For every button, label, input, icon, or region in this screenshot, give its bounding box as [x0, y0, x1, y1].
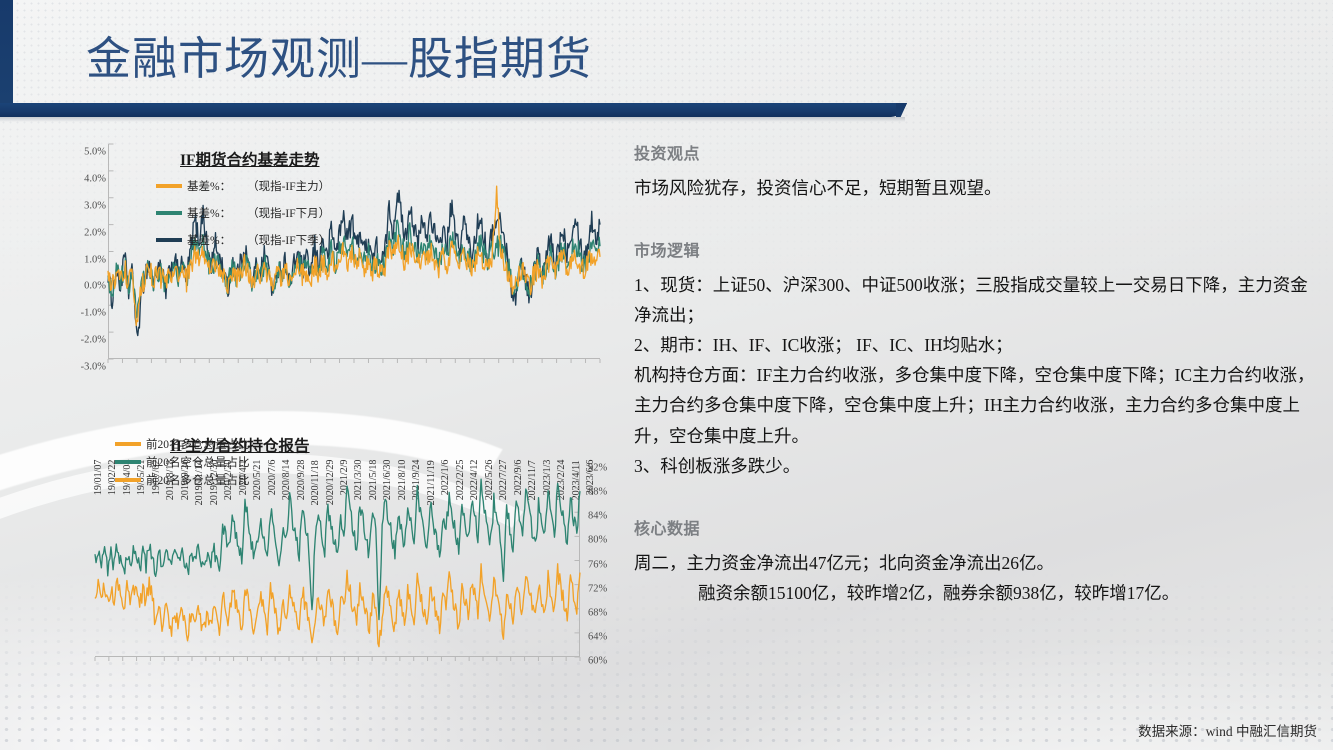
chart2-legend-label: 前20名多仓总量占比 [146, 436, 250, 452]
legend-color-swatch [156, 238, 182, 242]
chart2-x-axis-labels: 2019/01/172019/03/032019/04/172019/06/01… [95, 666, 580, 750]
chart1-legend-item: 基差%：（现指-IF下季） [156, 232, 330, 248]
chart1-legend-label-detail: （现指-IF下月） [247, 205, 330, 221]
chart1-y-tick: -2.0% [81, 335, 106, 346]
section-spacer [634, 481, 1324, 515]
legend-color-swatch [156, 211, 182, 215]
chart2-legend-label: 前20名空仓总量占比 [146, 454, 250, 470]
chart1-y-tick: -3.0% [81, 362, 106, 373]
chart2-legend-label: 前20名多仓总量占比 [146, 472, 250, 488]
title-underline-band [0, 103, 905, 117]
chart1-y-tick: 4.0% [84, 173, 106, 184]
chart2-legend: 前20名多仓总量占比前20名空仓总量占比前20名多仓总量占比 [115, 436, 250, 490]
section-paragraph: 市场风险犹存，投资信心不足，短期暂且观望。 [634, 173, 1324, 203]
legend-color-swatch [156, 184, 182, 188]
section-paragraph: 融资余额15100亿，较昨增2亿，融券余额938亿，较昨增17亿。 [634, 578, 1324, 608]
chart1-y-tick: -1.0% [81, 308, 106, 319]
chart1-y-tick: 2.0% [84, 227, 106, 238]
chart1-y-tick: 5.0% [84, 147, 106, 158]
chart2-y-tick: 84% [588, 511, 607, 522]
chart1-legend-label-prefix: 基差%： [187, 205, 231, 221]
legend-color-swatch [115, 478, 141, 482]
section-paragraph: 机构持仓方面：IF主力合约收涨，多仓集中度下降，空仓集中度下降；IC主力合约收涨… [634, 360, 1324, 450]
chart1-legend-label-detail: （现指-IF主力） [247, 178, 330, 194]
chart2-legend-item: 前20名多仓总量占比 [115, 436, 250, 452]
chart2-y-axis-labels: 92%88%84%80%76%72%68%64%60% [584, 464, 628, 657]
chart1-legend-item: 基差%：（现指-IF下月） [156, 205, 330, 221]
chart1-y-tick: 3.0% [84, 200, 106, 211]
chart2-y-tick: 76% [588, 559, 607, 570]
chart2-legend-item: 前20名空仓总量占比 [115, 454, 250, 470]
chart2-y-tick: 60% [588, 656, 607, 667]
section-heading: 核心数据 [634, 515, 1324, 539]
header-left-accent-bar [0, 0, 13, 103]
chart2-y-tick: 68% [588, 607, 607, 618]
section-paragraph: 3、科创板涨多跌少。 [634, 451, 1324, 481]
chart1-legend: 基差%：（现指-IF主力）基差%：（现指-IF下月）基差%：（现指-IF下季） [156, 178, 330, 259]
section-paragraph: 1、现货：上证50、沪深300、中证500收涨；三股指成交量较上一交易日下降，主… [634, 270, 1324, 330]
chart1-legend-label-detail: （现指-IF下季） [247, 232, 330, 248]
chart1-legend-label-prefix: 基差%： [187, 178, 231, 194]
section-heading: 市场逻辑 [634, 237, 1324, 261]
section-paragraph: 周二，主力资金净流出47亿元；北向资金净流出26亿。 [634, 548, 1324, 578]
chart-if-position-report: IF主力合约持仓报告 92%88%84%80%76%72%68%64%60% 前… [60, 428, 620, 738]
title-band-shadow [0, 117, 905, 122]
chart2-y-tick: 92% [588, 463, 607, 474]
chart2-svg [95, 464, 580, 657]
chart2-y-tick: 72% [588, 583, 607, 594]
chart2-y-tick: 64% [588, 631, 607, 642]
page-title: 金融市场观测—股指期货 [86, 37, 592, 82]
section-paragraph: 2、期市：IH、IF、IC收涨； IF、IC、IH均贴水； [634, 330, 1324, 360]
chart-if-basis-trend: IF期货合约基差走势 5.0%4.0%3.0%2.0%1.0%0.0%-1.0%… [60, 136, 620, 436]
chart1-y-axis-labels: 5.0%4.0%3.0%2.0%1.0%0.0%-1.0%-2.0%-3.0% [66, 144, 106, 359]
chart2-y-tick: 88% [588, 487, 607, 498]
chart1-legend-item: 基差%：（现指-IF主力） [156, 178, 330, 194]
chart2-y-tick: 80% [588, 535, 607, 546]
section-spacer [634, 203, 1324, 237]
chart1-legend-label-prefix: 基差%： [187, 232, 231, 248]
charts-column: IF期货合约基差走势 5.0%4.0%3.0%2.0%1.0%0.0%-1.0%… [0, 128, 630, 738]
chart2-legend-item: 前20名多仓总量占比 [115, 472, 250, 488]
legend-color-swatch [115, 442, 141, 446]
legend-color-swatch [115, 460, 141, 464]
commentary-panel: 投资观点市场风险犹存，投资信心不足，短期暂且观望。市场逻辑1、现货：上证50、沪… [634, 140, 1324, 608]
section-heading: 投资观点 [634, 140, 1324, 164]
chart1-y-tick: 0.0% [84, 281, 106, 292]
chart1-y-tick: 1.0% [84, 254, 106, 265]
data-source-footer: 数据来源：wind 中融汇信期货 [1138, 720, 1317, 740]
chart2-plot-area [95, 464, 580, 657]
slide-canvas: 金融市场观测—股指期货 IF期货合约基差走势 5.0%4.0%3.0%2.0%1… [0, 0, 1333, 750]
